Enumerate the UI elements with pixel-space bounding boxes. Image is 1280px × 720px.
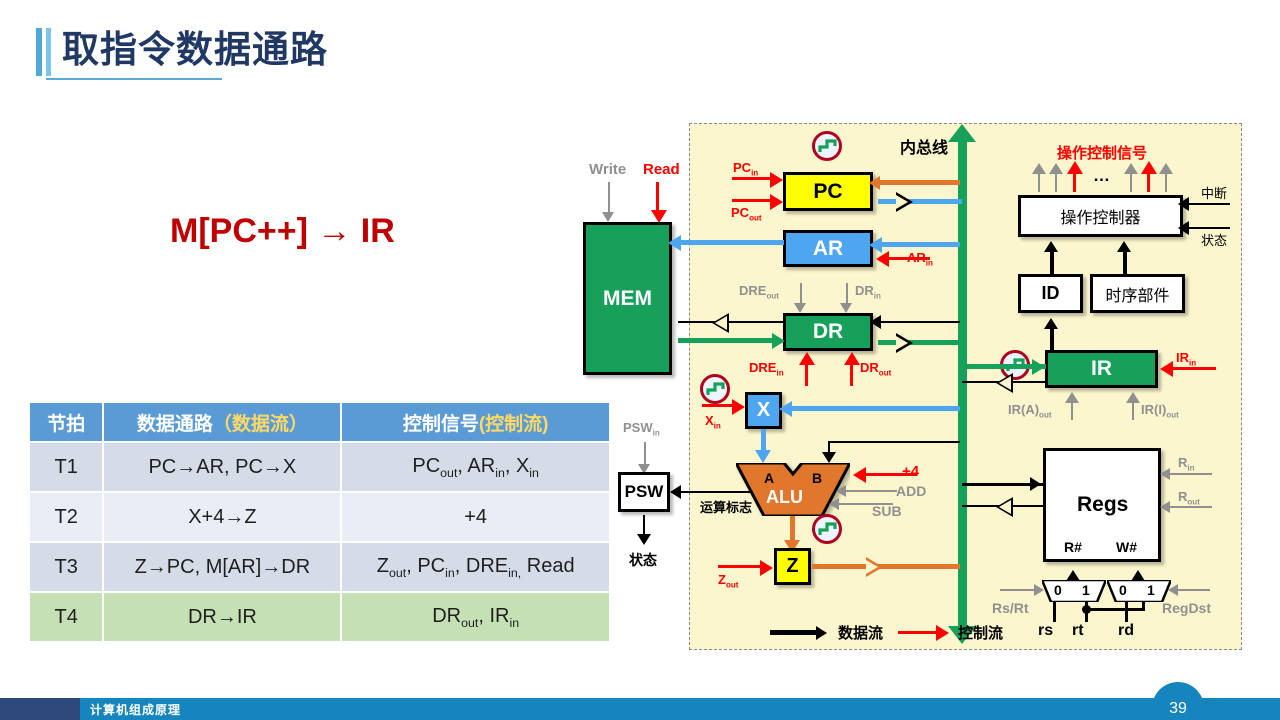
footer-dark-segment [0, 698, 80, 720]
th-control-signal: 控制信号(控制流) [341, 402, 610, 442]
interrupt-line [1188, 203, 1230, 205]
legend-control-flow-line [898, 631, 938, 634]
dre-out-label: DREout [739, 283, 779, 301]
dre-out-arrow-icon [794, 303, 806, 313]
ar-in-arrow-icon [876, 251, 889, 267]
th-beat: 节拍 [29, 402, 103, 442]
z-out-line [718, 565, 762, 568]
instruction-fetch-formula: M[PC++] → IR [170, 212, 395, 251]
table-row: T2 X+4→Z +4 [29, 492, 610, 542]
mux-regdst-option-1[interactable]: 1 [1147, 582, 1155, 598]
r-in-arrow-icon [1160, 468, 1170, 480]
dr-to-mem-line [678, 338, 774, 343]
interrupt-label: 中断 [1201, 183, 1227, 202]
mux-rs-rt-option-0[interactable]: 0 [1054, 582, 1062, 598]
dr-bus-in-arrow-icon [870, 315, 881, 329]
plus4-label: +4 [902, 463, 919, 480]
regdst-label: RegDst [1162, 600, 1211, 616]
mux-regdst-option-0[interactable]: 0 [1119, 582, 1127, 598]
cell-beat: T3 [29, 542, 103, 592]
dr-bus-out-line [878, 340, 962, 345]
th-datapath: 数据通路（数据流） [103, 402, 341, 442]
rs-line [1053, 602, 1056, 622]
ar-bus-in-line [878, 242, 960, 247]
cell-datapath: Z→PC, M[AR]→DR [103, 542, 341, 592]
bus-to-regs-arrow-icon [1030, 477, 1041, 491]
footer-bar: 计算机组成原理 [0, 698, 1280, 720]
add-arrow-icon [836, 485, 846, 497]
table-row-highlight: T4 DR→IR DRout, IRin [29, 592, 610, 642]
write-signal-line [608, 182, 610, 214]
pc-bus-in-arrow-icon [869, 176, 880, 190]
dr-in-arrow-icon [840, 303, 852, 313]
add-label: ADD [896, 483, 926, 499]
table-body: T1 PC→AR, PC→X PCout, ARin, Xin T2 X+4→Z… [29, 442, 610, 642]
pc-in-arrow-icon [770, 172, 783, 188]
regdst-select-arrow-icon [1168, 584, 1178, 596]
cell-beat: T4 [29, 592, 103, 642]
z-out-arrow-icon [760, 560, 773, 576]
ar-register: AR [783, 230, 873, 267]
op-signal-arrow-4-icon [1124, 163, 1138, 174]
pc-bus-out-line [878, 199, 962, 204]
op-signal-arrow-3-icon [1067, 161, 1083, 174]
psw-in-label: PSWin [623, 420, 660, 438]
title-underline [46, 78, 222, 80]
pc-out-arrow-icon [770, 194, 783, 210]
pc-out-label: PCout [731, 205, 762, 223]
rs-rt-select-line [1000, 589, 1036, 591]
x-in-label: Xin [705, 413, 721, 431]
x-register: X [745, 392, 782, 429]
legend-data-flow-arrow-icon [816, 626, 827, 640]
bus-to-alu-b-line [828, 441, 960, 443]
op-signal-arrow-1-icon [1032, 163, 1046, 174]
bus-arrow-up-icon [948, 124, 976, 142]
footer-light-segment [80, 698, 1280, 720]
table-header-row: 节拍 数据通路（数据流） 控制信号(控制流) [29, 402, 610, 442]
table-row: T3 Z→PC, M[AR]→DR Zout, PCin, DREin, Rea… [29, 542, 610, 592]
regdst-select-line [1176, 589, 1210, 591]
z-register: Z [774, 548, 811, 585]
rt-branch-line [1085, 608, 1145, 611]
psw-register: PSW [618, 472, 670, 512]
controller-status-arrow-icon [1178, 221, 1189, 235]
dr-out-arrow-icon [844, 352, 860, 365]
page-number-badge: 39 [1152, 682, 1204, 720]
plus4-arrow-icon [853, 467, 866, 483]
dre-in-arrow-icon [799, 352, 815, 365]
rd-input-label: rd [1118, 622, 1134, 640]
dr-register: DR [783, 313, 873, 351]
ir-register: IR [1045, 350, 1158, 388]
pc-bus-in-line [878, 180, 960, 185]
cell-signals: DRout, IRin [341, 592, 610, 642]
cell-beat: T2 [29, 492, 103, 542]
cell-datapath: DR→IR [103, 592, 341, 642]
legend-data-flow-line [770, 630, 818, 635]
dr-to-mem-arrow-icon [772, 333, 785, 349]
ir-i-out-label: IR(I)out [1141, 402, 1179, 420]
write-arrow-icon [602, 212, 614, 222]
dr-bus-in-line [878, 321, 960, 323]
dre-out-line [800, 283, 802, 305]
id-to-controller-arrow-icon [1044, 241, 1058, 252]
dre-in-label: DREin [749, 360, 784, 378]
mem-block: MEM [583, 222, 672, 375]
timing-to-controller-arrow-icon [1117, 241, 1131, 252]
title-accent-bar-1 [36, 28, 42, 76]
rt-junction-dot [1082, 605, 1091, 614]
cell-beat: T1 [29, 442, 103, 492]
footer-course-title: 计算机组成原理 [90, 701, 181, 718]
ir-in-arrow-icon [1160, 361, 1173, 377]
regs-label: Regs [1077, 493, 1128, 517]
page-title: 取指令数据通路 [36, 26, 596, 86]
op-control-signal-label: 操作控制信号 [1057, 142, 1147, 163]
rs-input-label: rs [1038, 622, 1053, 640]
legend-control-flow-arrow-icon [936, 625, 949, 641]
pc-out-line [732, 199, 772, 202]
internal-bus-label: 内总线 [900, 134, 948, 158]
id-block: ID [1018, 274, 1083, 313]
mem-to-dr-read-line [678, 321, 784, 323]
mux-rs-rt-option-1[interactable]: 1 [1082, 582, 1090, 598]
sub-arrow-icon [829, 498, 839, 510]
pc-register: PC [783, 172, 873, 211]
interrupt-arrow-icon [1178, 197, 1189, 211]
z-to-bus-line [812, 564, 960, 569]
op-signal-ellipsis: … [1093, 166, 1110, 186]
title-text: 取指令数据通路 [62, 26, 328, 74]
table-row: T1 PC→AR, PC→X PCout, ARin, Xin [29, 442, 610, 492]
cell-datapath: PC→AR, PC→X [103, 442, 341, 492]
read-signal-label: Read [643, 161, 680, 178]
clock-icon-x [700, 374, 730, 404]
op-signal-arrow-5-icon [1141, 161, 1157, 174]
rs-rt-label: Rs/Rt [992, 600, 1029, 616]
psw-status-arrow-icon [637, 534, 651, 545]
controller-status-label: 状态 [1201, 230, 1227, 249]
ir-in-label: IRin [1176, 350, 1196, 368]
sub-label: SUB [872, 503, 902, 519]
read-signal-line [656, 182, 659, 212]
rt-input-label: rt [1072, 622, 1084, 640]
r-out-label: Rout [1178, 489, 1200, 507]
alu-flags-label: 运算标志 [700, 497, 752, 516]
legend-data-flow-label: 数据流 [838, 622, 883, 643]
cell-datapath: X+4→Z [103, 492, 341, 542]
ir-a-out-label: IR(A)out [1008, 402, 1052, 420]
r-in-line [1168, 473, 1212, 475]
write-signal-label: Write [589, 161, 626, 178]
regs-write-port-label: W# [1116, 539, 1137, 555]
dr-out-label: DRout [860, 360, 891, 378]
bus-to-x-line [788, 406, 960, 411]
ar-to-mem-arrow-icon [668, 235, 681, 251]
pc-in-label: PCin [733, 160, 758, 178]
rd-line [1125, 602, 1128, 622]
add-line [845, 490, 897, 492]
title-accent-bar-2 [46, 28, 51, 76]
beat-datapath-table: 节拍 数据通路（数据流） 控制信号(控制流) T1 PC→AR, PC→X PC… [28, 401, 611, 643]
dr-in-label: DRin [855, 283, 881, 301]
regs-read-port-label: R# [1064, 539, 1082, 555]
cell-signals: PCout, ARin, Xin [341, 442, 610, 492]
rs-rt-select-arrow-icon [1034, 584, 1044, 596]
ir-a-out-arrow-icon [1065, 392, 1079, 403]
alu-flags-line [679, 491, 753, 493]
op-signal-arrow-6-icon [1159, 163, 1173, 174]
cell-signals: +4 [341, 492, 610, 542]
x-in-line [702, 404, 734, 407]
dr-in-line [846, 283, 848, 305]
clock-icon-pc [812, 131, 842, 161]
internal-bus [958, 140, 967, 628]
x-to-alu-arrow-icon [755, 450, 771, 463]
cell-signals: Zout, PCin, DREin, Read [341, 542, 610, 592]
psw-status-label: 状态 [629, 550, 657, 570]
alu-b-arrow-icon [822, 452, 836, 463]
z-out-label: Zout [718, 572, 738, 590]
bus-to-x-arrow-icon [779, 401, 792, 417]
r-in-label: Rin [1178, 455, 1195, 473]
ar-in-label: ARin [907, 250, 933, 268]
alu-label: ALU [766, 487, 803, 508]
timing-unit-block: 时序部件 [1090, 274, 1185, 313]
mux-rs-rt: 0 1 [1042, 580, 1106, 607]
op-signal-arrow-2-icon [1049, 163, 1063, 174]
alu-flags-arrow-icon [670, 485, 681, 499]
clock-icon-z [812, 514, 842, 544]
r-out-arrow-icon [1160, 501, 1170, 513]
register-file-block: Regs R# W# [1043, 448, 1161, 562]
ir-i-out-arrow-icon [1126, 392, 1140, 403]
rt-to-mux-right-line [1142, 602, 1145, 610]
psw-in-line [644, 442, 646, 466]
ir-to-id-arrow-icon [1044, 318, 1058, 329]
alu-input-a-label: A [764, 470, 774, 486]
bus-to-ir-arrow-icon [1032, 359, 1045, 375]
operation-controller-block: 操作控制器 [1018, 195, 1183, 237]
legend-control-flow-label: 控制流 [958, 622, 1003, 643]
alu-input-b-label: B [812, 470, 822, 486]
controller-status-line [1188, 227, 1230, 229]
x-in-arrow-icon [732, 399, 745, 415]
ar-to-mem-line [678, 240, 784, 245]
